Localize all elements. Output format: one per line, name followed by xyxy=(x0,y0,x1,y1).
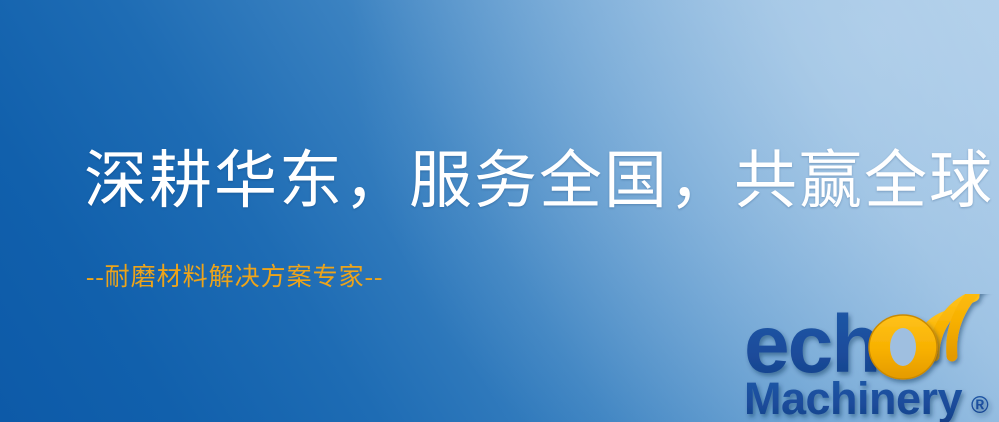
promo-banner: 深耕华东，服务全国，共赢全球 --耐磨材料解决方案专家-- xyxy=(0,0,999,422)
banner-subtitle: --耐磨材料解决方案专家-- xyxy=(86,265,383,290)
banner-headline: 深耕华东，服务全国，共赢全球 xyxy=(84,150,994,213)
logo-gold-o xyxy=(869,315,937,379)
logo-registered-mark: ® xyxy=(971,392,989,419)
logo-subwordmark-machinery: Machinery xyxy=(744,373,963,422)
echo-machinery-logo: ech Machinery ® xyxy=(740,294,999,422)
